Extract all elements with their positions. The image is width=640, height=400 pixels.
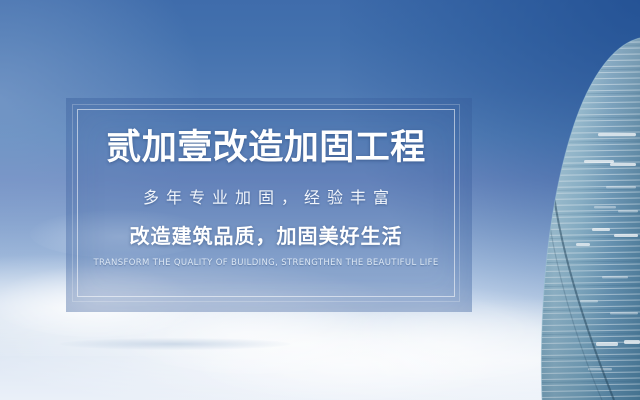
banner-slogan: 改造建筑品质，加固美好生活: [130, 220, 403, 249]
banner-title: 贰加壹改造加固工程: [106, 130, 426, 168]
banner-subtitle-english: TRANSFORM THE QUALITY OF BUILDING, STREN…: [93, 258, 438, 268]
banner-text-block: 贰加壹改造加固工程 多年专业加固，经验丰富 改造建筑品质，加固美好生活 TRAN…: [72, 104, 460, 302]
banner-tagline: 多年专业加固，经验丰富: [136, 184, 396, 208]
skyscraper-icon: [510, 0, 640, 400]
hero-banner: 贰加壹改造加固工程 多年专业加固，经验丰富 改造建筑品质，加固美好生活 TRAN…: [0, 0, 640, 400]
cloud-wisp: [60, 338, 290, 350]
